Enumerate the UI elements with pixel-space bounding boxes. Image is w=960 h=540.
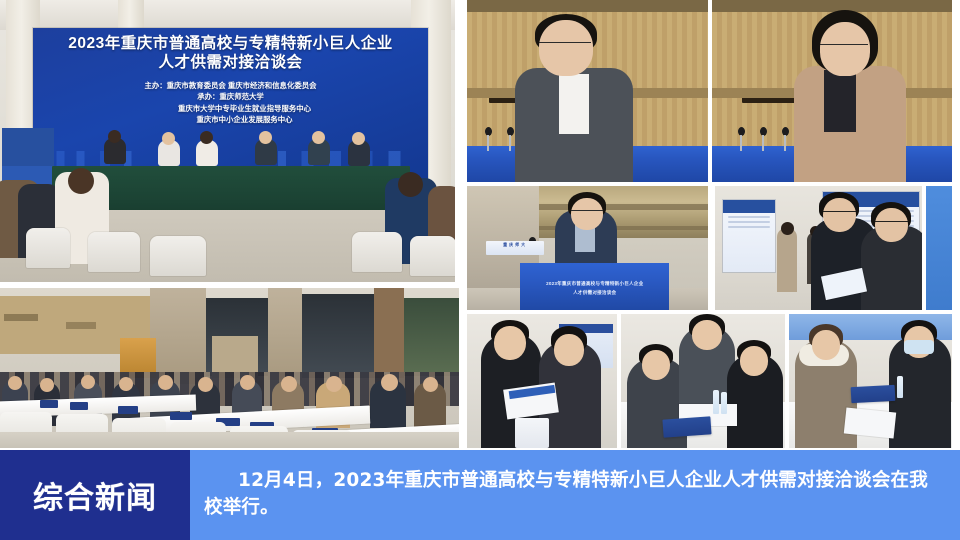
news-caption-area: 12月4日，2023年重庆市普通高校与专精特新小巨人企业人才供需对接洽谈会在我校…	[190, 450, 960, 540]
news-caption-text: 12月4日，2023年重庆市普通高校与专精特新小巨人企业人才供需对接洽谈会在我校…	[190, 468, 960, 522]
lectern-speaker-photo: 2023年重庆市普通高校与专精特新小巨人企业 人才供需对接洽谈会 重庆师大	[467, 186, 708, 310]
female-speaker-photo	[712, 0, 952, 182]
photo-collage: 2023年重庆市普通高校与专精特新小巨人企业 人才供需对接洽谈会 主办：重庆市教…	[0, 0, 960, 450]
lectern-text-line2: 人才供需对接洽谈会	[520, 289, 669, 298]
lectern-plaque-text: 重庆师大	[486, 241, 544, 250]
news-category-tag: 综合新闻	[0, 450, 190, 540]
students-reading-brochure-photo	[715, 186, 922, 310]
banner-title-line2: 人才供需对接洽谈会	[33, 53, 428, 72]
lectern-text-line1: 2023年重庆市普通高校与专精特新小巨人企业	[520, 280, 669, 289]
banner-title-line1: 2023年重庆市普通高校与专精特新小巨人企业	[33, 34, 428, 53]
news-category-label: 综合新闻	[33, 473, 157, 517]
audience-hall-photo	[0, 288, 459, 448]
banner-organizer-line3: 重庆市中小企业发展服务中心	[33, 114, 428, 125]
news-collage-page: 2023年重庆市普通高校与专精特新小巨人企业 人才供需对接洽谈会 主办：重庆市教…	[0, 0, 960, 540]
news-footer: 综合新闻 12月4日，2023年重庆市普通高校与专精特新小巨人企业人才供需对接洽…	[0, 450, 960, 540]
job-fair-desk-photo-1	[467, 314, 617, 448]
banner-organizer-line1: 承办：重庆师范大学	[33, 91, 428, 102]
banner-host-line: 主办：重庆市教育委员会 重庆市经济和信息化委员会	[33, 80, 428, 91]
job-fair-desk-photo-3	[789, 314, 952, 448]
job-fair-desk-photo-2	[621, 314, 785, 448]
lectern-plaque: 重庆师大	[486, 241, 544, 256]
right-edge-strip	[926, 186, 952, 310]
banner-organizer-line2: 重庆市大学中专毕业生就业指导服务中心	[33, 103, 428, 114]
male-speaker-photo	[467, 0, 708, 182]
conference-stage-photo: 2023年重庆市普通高校与专精特新小巨人企业 人才供需对接洽谈会 主办：重庆市教…	[0, 0, 455, 282]
